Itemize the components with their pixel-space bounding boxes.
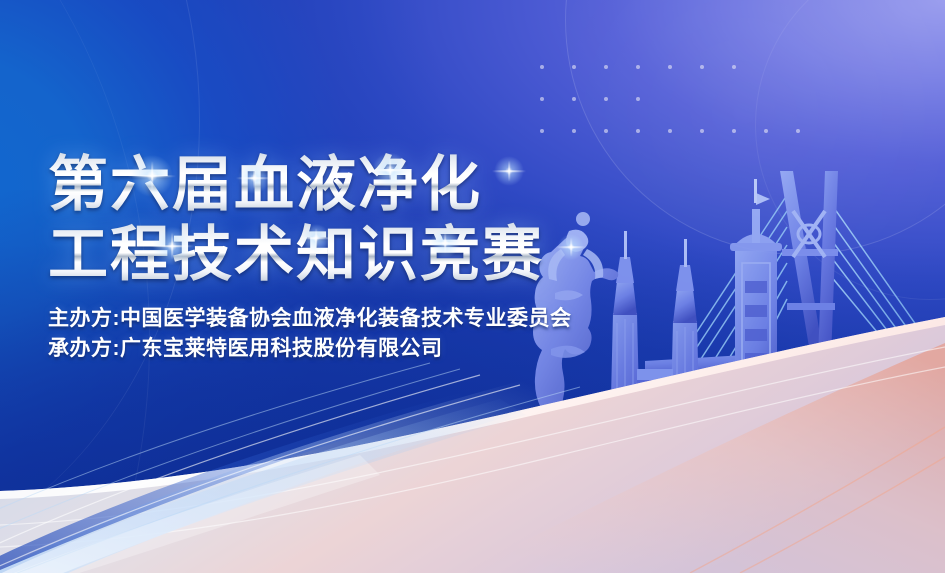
banner-title-line-1: 第六届血液净化 [48,150,572,220]
dot [604,97,608,101]
dot [668,65,672,69]
city-skyline-illustration [525,153,945,573]
dot [540,97,544,101]
dot-row [540,56,828,88]
dot [700,65,704,69]
dot [572,65,576,69]
dot [668,129,672,133]
dot [732,65,736,69]
dot-row [540,88,828,120]
decorative-dot-grid [540,56,828,152]
dot [572,129,576,133]
dot [796,129,800,133]
city-skyline-svg [525,153,945,573]
banner-subtitle-block: 主办方:中国医学装备协会血液净化装备技术专业委员会 承办方:广东宝莱特医用科技股… [48,304,572,364]
banner-title-line-2: 工程技术知识竞赛 [48,220,572,290]
dot [636,129,640,133]
dot [572,97,576,101]
banner-text-block: 第六届血液净化 工程技术知识竞赛 主办方:中国医学装备协会血液净化装备技术专业委… [48,150,572,364]
event-banner: 第六届血液净化 工程技术知识竞赛 主办方:中国医学装备协会血液净化装备技术专业委… [0,0,945,573]
dot-row [540,120,828,152]
dot [700,129,704,133]
dot [540,65,544,69]
dot [540,129,544,133]
dot [604,129,608,133]
dot [636,97,640,101]
dot [732,129,736,133]
dot [636,65,640,69]
banner-host-line: 承办方:广东宝莱特医用科技股份有限公司 [48,334,572,364]
dot [604,65,608,69]
dot [764,129,768,133]
banner-organizer-line: 主办方:中国医学装备协会血液净化装备技术专业委员会 [48,304,572,334]
